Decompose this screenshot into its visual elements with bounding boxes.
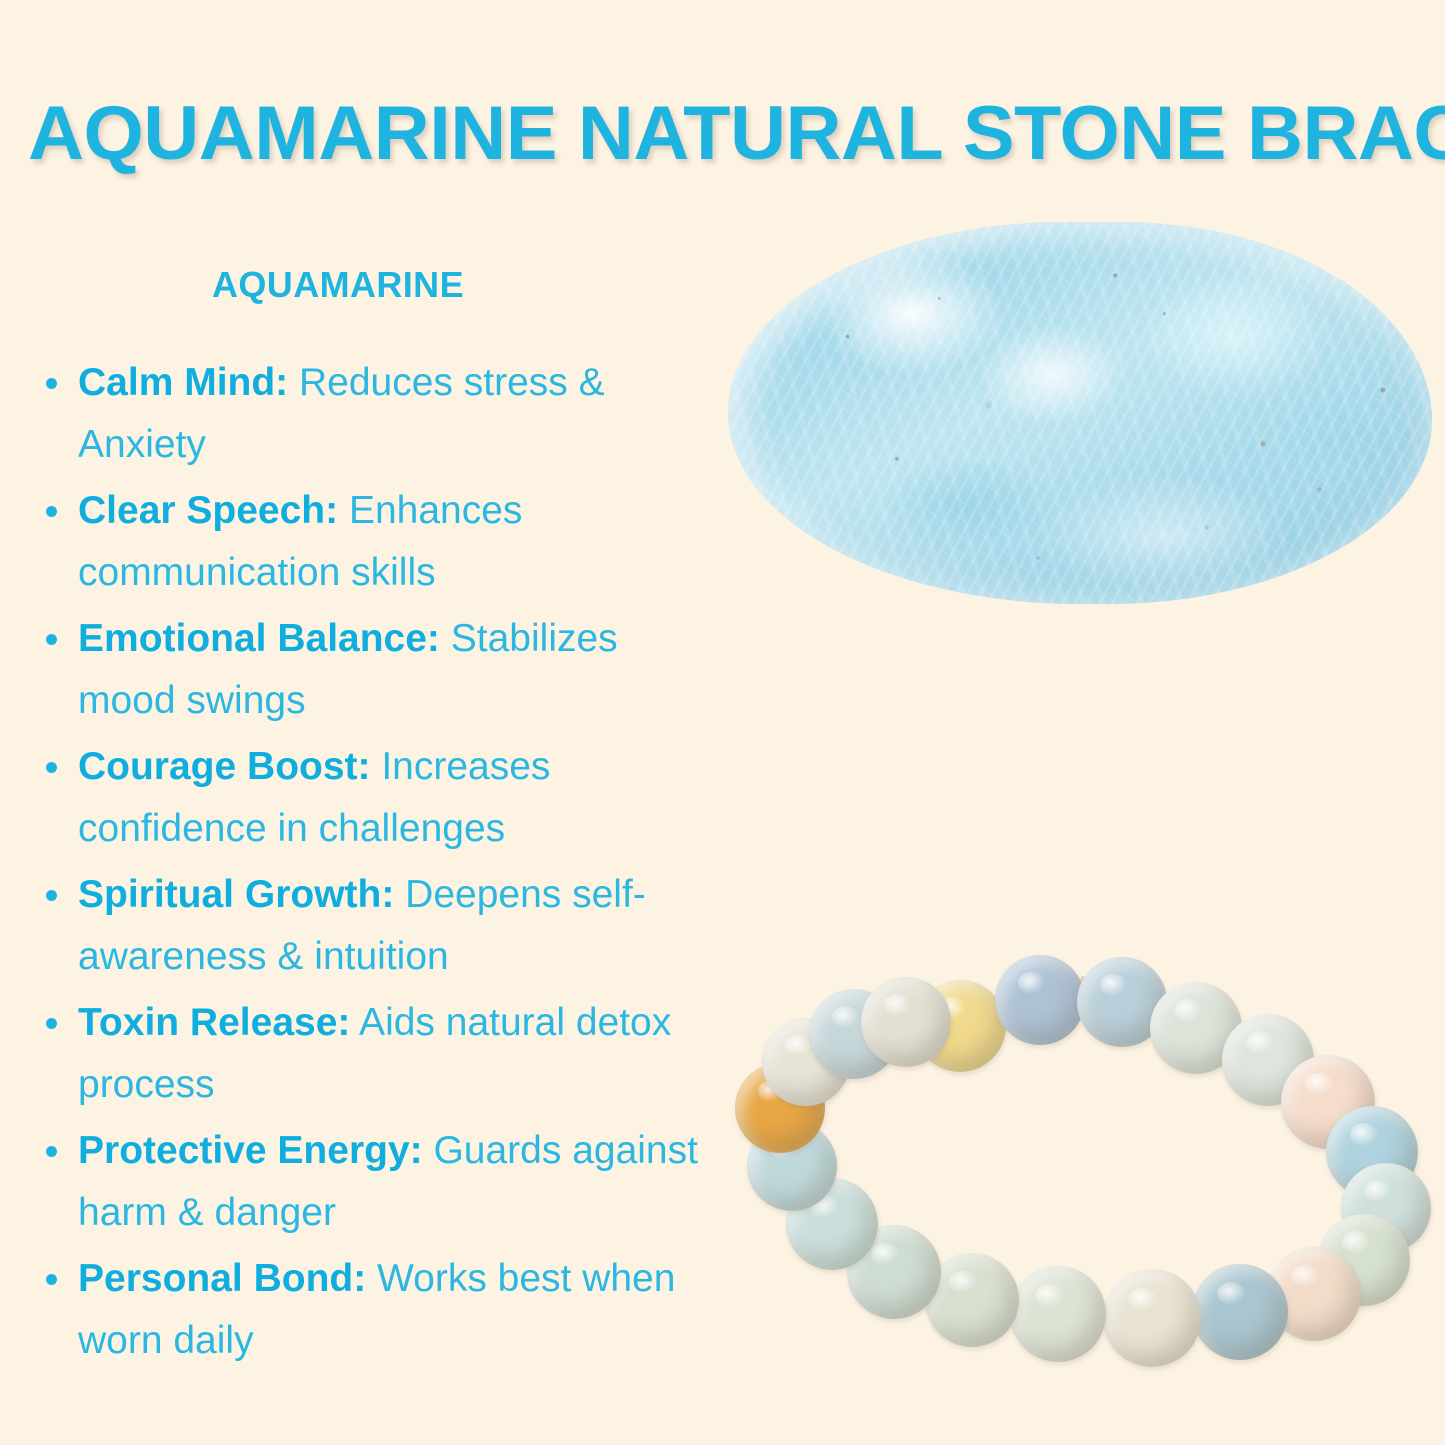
benefit-item: Clear Speech: Enhances communication ski… <box>26 480 716 604</box>
section-subtitle: AQUAMARINE <box>212 264 464 306</box>
bracelet-bead <box>1010 1266 1106 1362</box>
bullet-dot-icon <box>46 378 57 389</box>
bullet-dot-icon <box>46 1018 57 1029</box>
aquamarine-stone-image <box>728 222 1432 604</box>
benefit-item: Toxin Release: Aids natural detox proces… <box>26 992 716 1116</box>
benefit-label: Calm Mind: <box>78 361 288 404</box>
bracelet-bead <box>861 977 951 1067</box>
benefit-item: Emotional Balance: Stabilizes mood swing… <box>26 608 716 732</box>
benefits-list: Calm Mind: Reduces stress & AnxietyClear… <box>26 352 716 1376</box>
benefit-label: Emotional Balance: <box>78 617 440 660</box>
stone-shape <box>728 222 1432 604</box>
bullet-dot-icon <box>46 1146 57 1157</box>
benefit-label: Toxin Release: <box>78 1001 350 1044</box>
aquamarine-bracelet-image <box>728 952 1428 1338</box>
benefit-label: Protective Energy: <box>78 1129 423 1172</box>
page-title: AQUAMARINE NATURAL STONE BRACELET <box>28 93 1445 175</box>
benefit-label: Spiritual Growth: <box>78 873 394 916</box>
benefit-label: Courage Boost: <box>78 745 371 788</box>
benefit-label: Personal Bond: <box>78 1257 366 1300</box>
benefit-item: Personal Bond: Works best when worn dail… <box>26 1248 716 1372</box>
benefit-item: Calm Mind: Reduces stress & Anxiety <box>26 352 716 476</box>
benefit-item: Protective Energy: Guards against harm &… <box>26 1120 716 1244</box>
bullet-dot-icon <box>46 506 57 517</box>
bullet-dot-icon <box>46 1274 57 1285</box>
bracelet-bead <box>1192 1264 1288 1360</box>
bullet-dot-icon <box>46 762 57 773</box>
benefit-label: Clear Speech: <box>78 489 338 532</box>
bracelet-bead <box>1103 1269 1201 1367</box>
benefit-item: Spiritual Growth: Deepens self-awareness… <box>26 864 716 988</box>
bullet-dot-icon <box>46 634 57 645</box>
bullet-dot-icon <box>46 890 57 901</box>
bracelet-bead <box>995 955 1085 1045</box>
infographic-canvas: AQUAMARINE NATURAL STONE BRACELET AQUAMA… <box>0 0 1445 1445</box>
benefit-item: Courage Boost: Increases confidence in c… <box>26 736 716 860</box>
